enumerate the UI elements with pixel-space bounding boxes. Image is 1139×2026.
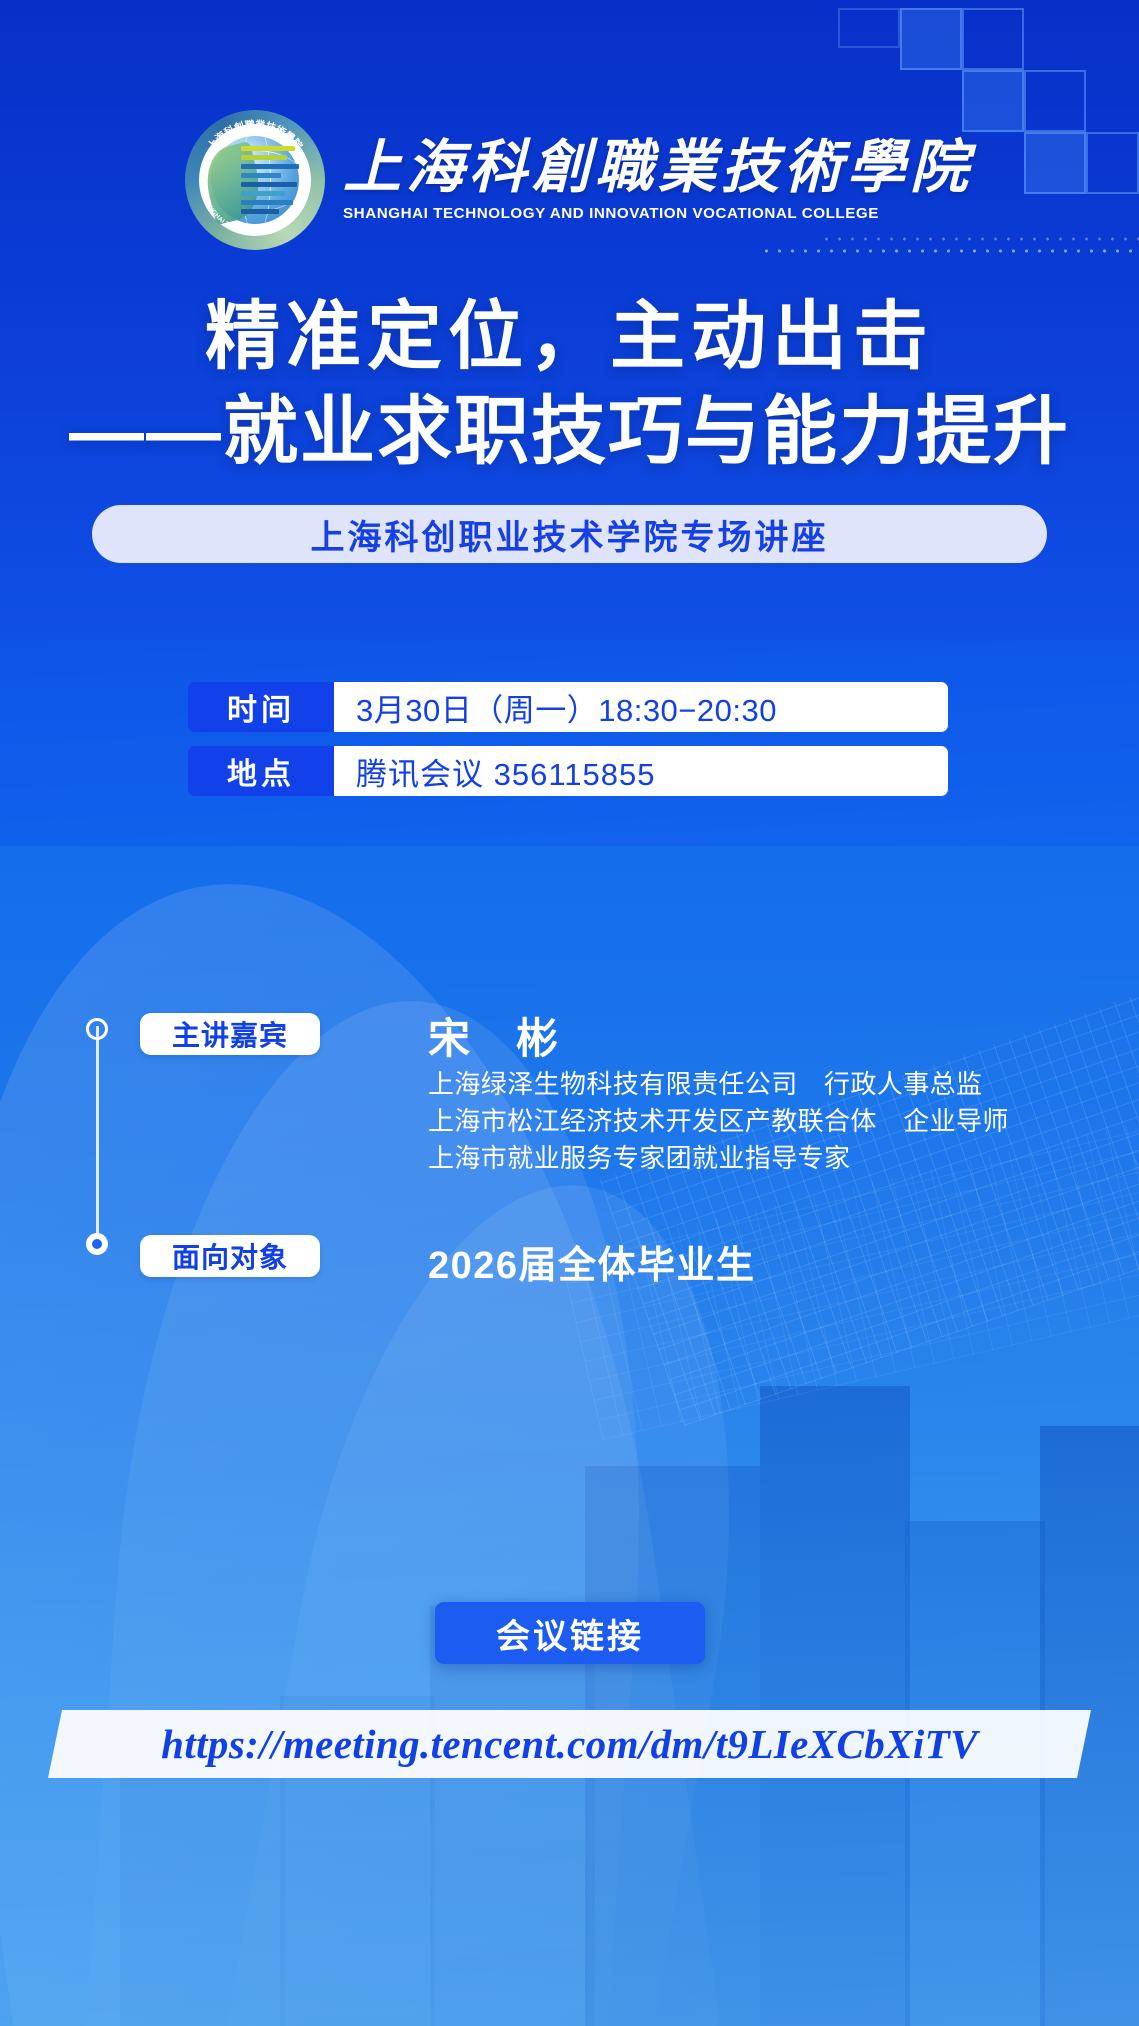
title-line-2: ——就业求职技巧与能力提升 — [0, 387, 1139, 476]
meeting-url-bar[interactable]: https://meeting.tencent.com/dm/t9LIeXCbX… — [48, 1710, 1091, 1778]
speaker-name: 宋 彬 — [428, 1005, 560, 1066]
meeting-link-button[interactable]: 会议链接 — [435, 1602, 705, 1664]
event-info-block: 时间 3月30日（周一）18:30−20:30 地点 腾讯会议 35611585… — [188, 682, 948, 810]
cube-decoration — [962, 8, 1024, 70]
poster-root: 上海科創職業技術學院 SHANGHAI TECH & INNOVATION CO… — [0, 0, 1139, 2026]
info-row-place: 地点 腾讯会议 356115855 — [188, 746, 948, 796]
logo-english-name: SHANGHAI TECHNOLOGY AND INNOVATION VOCAT… — [343, 205, 973, 222]
title-line-1: 精准定位，主动出击 — [0, 292, 1139, 381]
timeline-dot-speaker — [86, 1018, 108, 1040]
crest-arc-text: 上海科創職業技術學院 SHANGHAI TECH & INNOVATION CO… — [185, 110, 325, 250]
speaker-credential-line: 上海市松江经济技术开发区产教联合体 企业导师 — [428, 1103, 1009, 1140]
timeline-dot-audience — [86, 1233, 108, 1255]
cube-decoration — [838, 8, 900, 48]
svg-text:SHANGHAI TECH & INNOVATION COL: SHANGHAI TECH & INNOVATION COLLEGE — [201, 193, 309, 236]
audience-value: 2026届全体毕业生 — [428, 1234, 756, 1289]
info-value-place: 腾讯会议 356115855 — [334, 746, 948, 796]
info-label-time: 时间 — [188, 682, 334, 732]
speaker-credentials: 上海绿泽生物科技有限责任公司 行政人事总监 上海市松江经济技术开发区产教联合体 … — [428, 1066, 1009, 1177]
cube-decoration — [1086, 132, 1139, 194]
cube-decoration — [1024, 70, 1086, 132]
info-value-time: 3月30日（周一）18:30−20:30 — [334, 682, 948, 732]
cube-decoration — [900, 8, 962, 70]
meeting-url-text[interactable]: https://meeting.tencent.com/dm/t9LIeXCbX… — [161, 1720, 978, 1768]
cube-decoration — [1024, 132, 1086, 194]
subtitle-banner: 上海科创职业技术学院专场讲座 — [92, 505, 1047, 563]
info-label-place: 地点 — [188, 746, 334, 796]
subtitle-text: 上海科创职业技术学院专场讲座 — [311, 510, 829, 559]
tag-audience: 面向对象 — [140, 1235, 320, 1277]
timeline-connector — [90, 1018, 104, 1253]
building-silhouette — [760, 1386, 910, 2026]
college-logo: 上海科創職業技術學院 SHANGHAI TECH & INNOVATION CO… — [185, 110, 973, 250]
tag-speaker: 主讲嘉宾 — [140, 1013, 320, 1055]
speaker-credential-line: 上海市就业服务专家团就业指导专家 — [428, 1140, 1009, 1177]
logo-chinese-name: 上海科創職業技術學院 — [343, 138, 973, 199]
info-row-time: 时间 3月30日（周一）18:30−20:30 — [188, 682, 948, 732]
college-crest-icon: 上海科創職業技術學院 SHANGHAI TECH & INNOVATION CO… — [185, 110, 325, 250]
poster-title: 精准定位，主动出击 ——就业求职技巧与能力提升 — [0, 292, 1139, 475]
svg-text:上海科創職業技術學院: 上海科創職業技術學院 — [204, 118, 305, 152]
speaker-credential-line: 上海绿泽生物科技有限责任公司 行政人事总监 — [428, 1066, 1009, 1103]
